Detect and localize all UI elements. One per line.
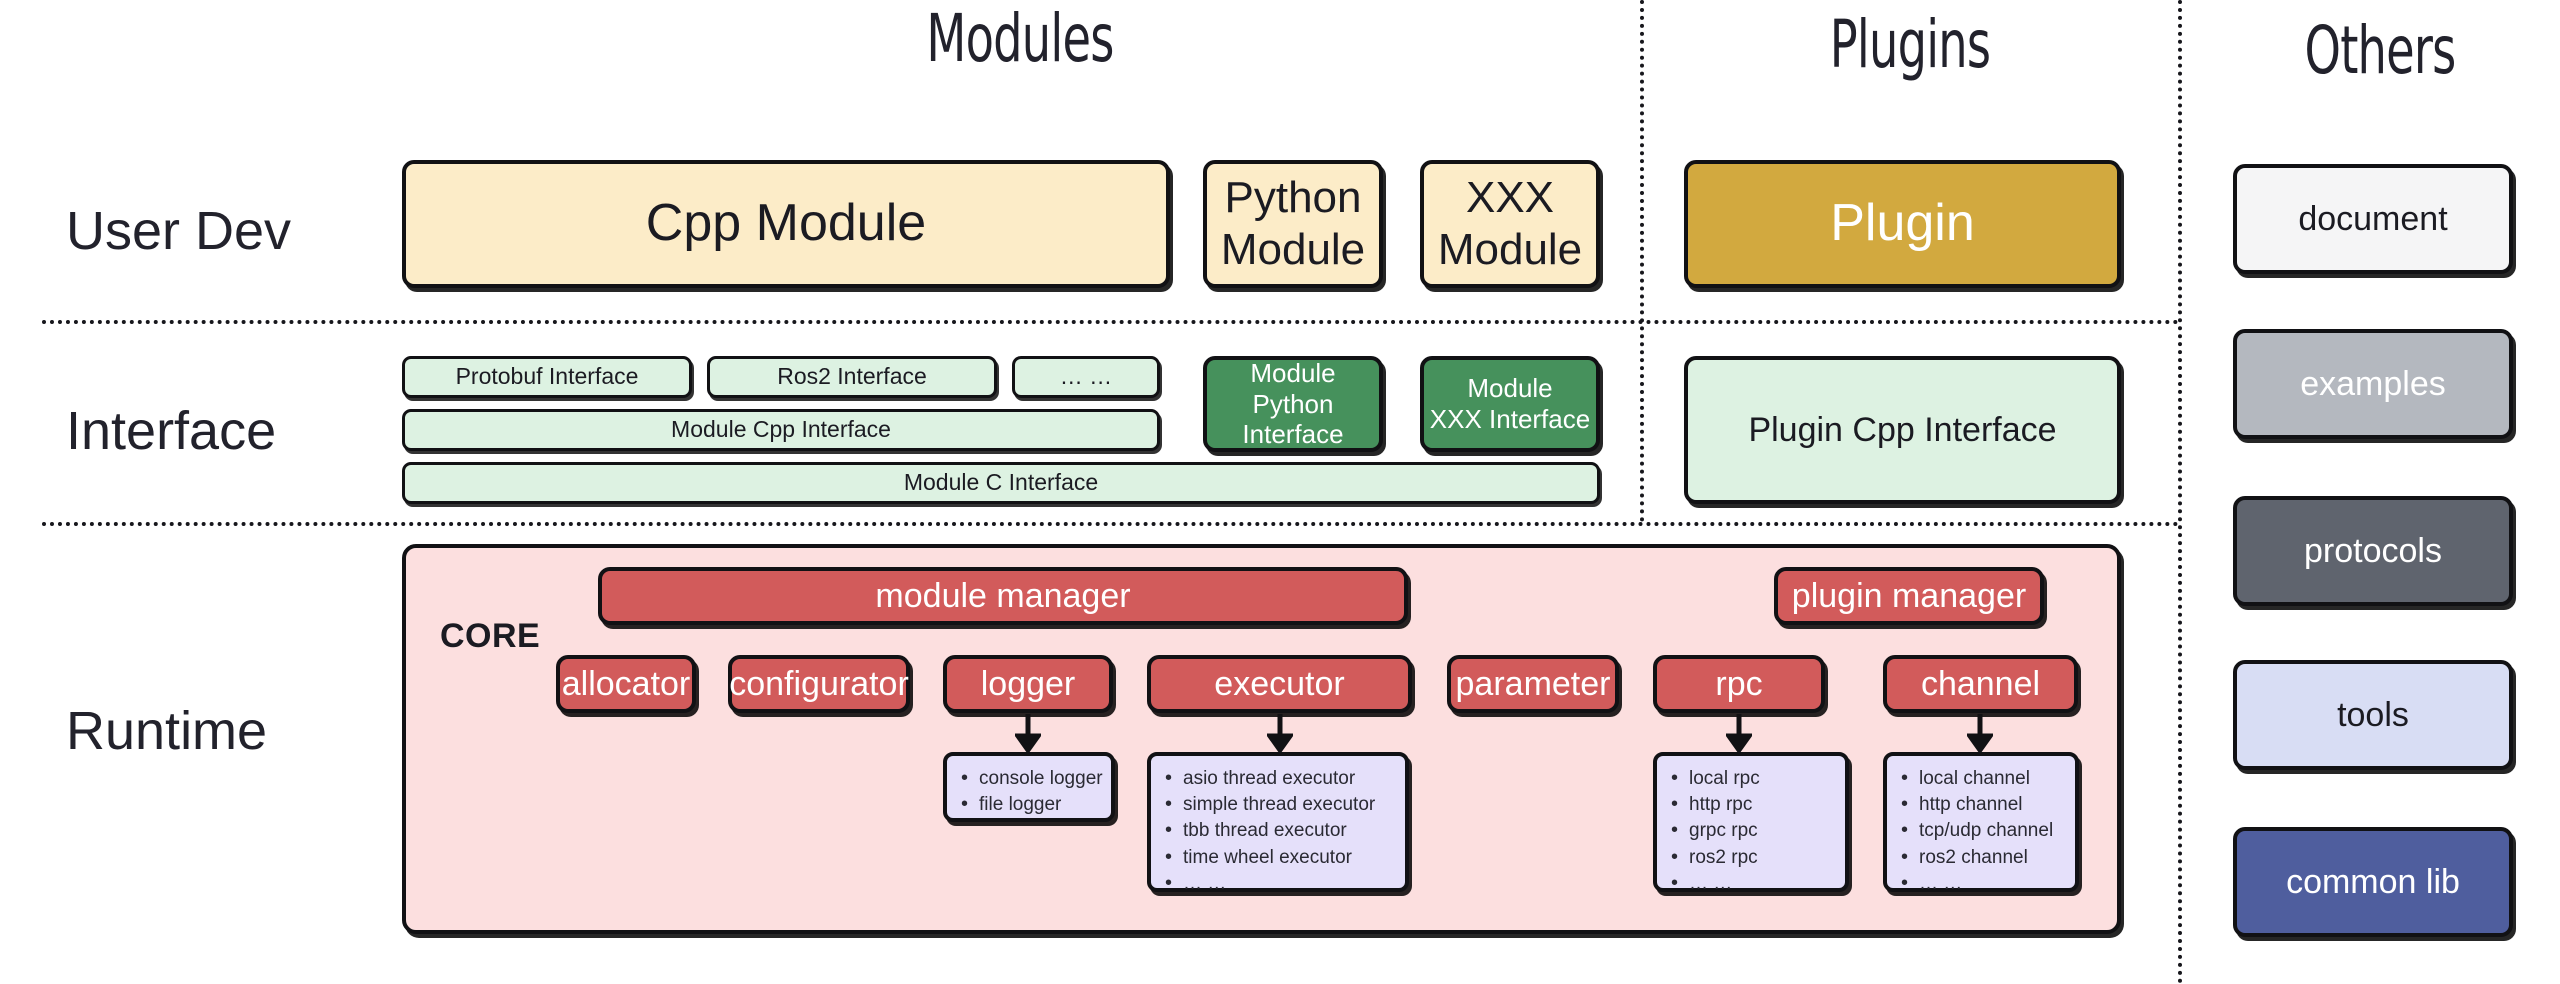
channel-detail-item: ros2 channel (1899, 845, 2067, 871)
divider-plugins-others (2178, 0, 2182, 984)
cpp-module-box[interactable]: Cpp Module (402, 160, 1170, 288)
component-channel-label: channel (1921, 664, 2040, 704)
component-executor-label: executor (1214, 664, 1344, 704)
module-c-interface-label: Module C Interface (904, 469, 1098, 496)
python-module-label-line2: Module (1221, 224, 1365, 276)
others-item-tools-label: tools (2337, 695, 2409, 735)
protobuf-interface-box[interactable]: Protobuf Interface (402, 356, 692, 398)
logger-detail-item: file logger (959, 792, 1103, 818)
component-parameter-box[interactable]: parameter (1447, 655, 1619, 713)
architecture-diagram: Modules Plugins Others User Dev Interfac… (0, 0, 2560, 984)
logger-details-box: console logger file logger (943, 752, 1115, 822)
rpc-detail-item: ros2 rpc (1669, 845, 1837, 871)
plugin-manager-box[interactable]: plugin manager (1774, 567, 2044, 625)
executor-details-list: asio thread executor simple thread execu… (1163, 766, 1397, 897)
channel-details-list: local channel http channel tcp/udp chann… (1899, 766, 2067, 897)
module-xxx-interface-label-line1: Module (1467, 373, 1552, 404)
others-item-tools[interactable]: tools (2233, 660, 2513, 770)
component-configurator-label: configurator (729, 664, 909, 704)
executor-detail-item: asio thread executor (1163, 766, 1397, 792)
divider-userdev-interface (42, 320, 2180, 324)
channel-detail-item: … … (1899, 871, 2067, 897)
column-header-plugins: Plugins (1731, 6, 2090, 83)
channel-detail-item: local channel (1899, 766, 2067, 792)
arrow-channel-down-icon (1967, 714, 1993, 754)
python-module-label-line1: Python (1225, 172, 1362, 224)
python-module-box[interactable]: Python Module (1203, 160, 1383, 288)
column-header-others: Others (2208, 12, 2551, 89)
more-interface-label: … … (1060, 363, 1112, 390)
ros2-interface-box[interactable]: Ros2 Interface (707, 356, 997, 398)
row-label-interface: Interface (66, 400, 276, 462)
others-item-examples[interactable]: examples (2233, 329, 2513, 439)
executor-details-box: asio thread executor simple thread execu… (1147, 752, 1409, 892)
module-manager-box[interactable]: module manager (598, 567, 1408, 625)
module-xxx-interface-label-line2: XXX Interface (1430, 404, 1590, 435)
others-item-document-label: document (2298, 199, 2447, 239)
module-manager-label: module manager (875, 576, 1130, 616)
row-label-runtime: Runtime (66, 700, 267, 762)
module-cpp-interface-label: Module Cpp Interface (671, 416, 891, 443)
executor-detail-item: time wheel executor (1163, 845, 1397, 871)
executor-detail-item: tbb thread executor (1163, 818, 1397, 844)
arrow-logger-down-icon (1015, 714, 1041, 754)
rpc-detail-item: grpc rpc (1669, 818, 1837, 844)
component-channel-box[interactable]: channel (1883, 655, 2078, 713)
plugin-cpp-interface-box[interactable]: Plugin Cpp Interface (1684, 356, 2121, 504)
plugin-manager-label: plugin manager (1792, 576, 2026, 616)
others-item-protocols[interactable]: protocols (2233, 496, 2513, 606)
others-item-common-lib-label: common lib (2286, 862, 2460, 902)
module-cpp-interface-box[interactable]: Module Cpp Interface (402, 409, 1160, 451)
xxx-module-label-line2: Module (1438, 224, 1582, 276)
others-item-common-lib[interactable]: common lib (2233, 827, 2513, 937)
component-allocator-label: allocator (562, 664, 691, 704)
component-logger-box[interactable]: logger (943, 655, 1113, 713)
executor-detail-item: simple thread executor (1163, 792, 1397, 818)
rpc-detail-item: … … (1669, 871, 1837, 897)
more-interface-box[interactable]: … … (1012, 356, 1160, 398)
plugin-box[interactable]: Plugin (1684, 160, 2121, 288)
component-configurator-box[interactable]: configurator (728, 655, 910, 713)
plugin-label: Plugin (1830, 193, 1975, 254)
component-allocator-box[interactable]: allocator (556, 655, 696, 713)
divider-interface-runtime (42, 522, 2180, 526)
row-label-user-dev: User Dev (66, 200, 291, 262)
core-label: CORE (440, 617, 540, 656)
module-python-interface-label-line2: Python Interface (1207, 389, 1379, 450)
others-item-examples-label: examples (2300, 364, 2446, 404)
channel-detail-item: http channel (1899, 792, 2067, 818)
others-item-protocols-label: protocols (2304, 531, 2442, 571)
rpc-details-list: local rpc http rpc grpc rpc ros2 rpc … … (1669, 766, 1837, 897)
module-c-interface-box[interactable]: Module C Interface (402, 462, 1600, 504)
component-parameter-label: parameter (1456, 664, 1611, 704)
component-rpc-box[interactable]: rpc (1653, 655, 1825, 713)
logger-details-list: console logger file logger (959, 766, 1103, 818)
cpp-module-label: Cpp Module (646, 193, 926, 254)
divider-modules-plugins (1640, 0, 1644, 522)
channel-details-box: local channel http channel tcp/udp chann… (1883, 752, 2079, 892)
logger-detail-item: console logger (959, 766, 1103, 792)
channel-detail-item: tcp/udp channel (1899, 818, 2067, 844)
rpc-details-box: local rpc http rpc grpc rpc ros2 rpc … … (1653, 752, 1849, 892)
rpc-detail-item: http rpc (1669, 792, 1837, 818)
executor-detail-item: … … (1163, 871, 1397, 897)
module-xxx-interface-box[interactable]: Module XXX Interface (1420, 356, 1600, 452)
component-logger-label: logger (981, 664, 1076, 704)
component-executor-box[interactable]: executor (1147, 655, 1412, 713)
protobuf-interface-label: Protobuf Interface (456, 363, 639, 390)
others-item-document[interactable]: document (2233, 164, 2513, 274)
module-python-interface-box[interactable]: Module Python Interface (1203, 356, 1383, 452)
column-header-modules: Modules (794, 0, 1246, 77)
xxx-module-label-line1: XXX (1466, 172, 1554, 224)
ros2-interface-label: Ros2 Interface (777, 363, 927, 390)
component-rpc-label: rpc (1715, 664, 1762, 704)
xxx-module-box[interactable]: XXX Module (1420, 160, 1600, 288)
arrow-rpc-down-icon (1726, 714, 1752, 754)
plugin-cpp-interface-label: Plugin Cpp Interface (1748, 410, 2056, 450)
module-python-interface-label-line1: Module (1250, 358, 1335, 389)
arrow-executor-down-icon (1267, 714, 1293, 754)
rpc-detail-item: local rpc (1669, 766, 1837, 792)
